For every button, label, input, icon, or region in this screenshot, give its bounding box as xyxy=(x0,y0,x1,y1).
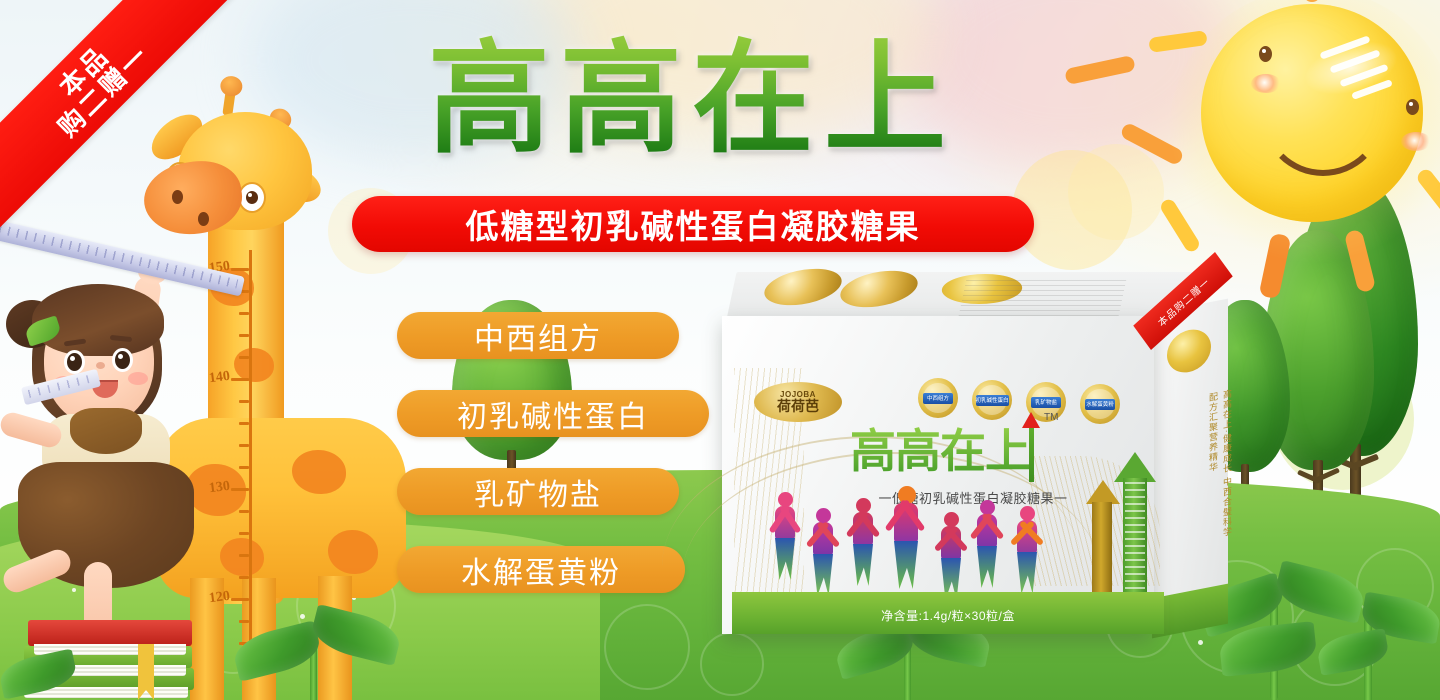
package-logo-text: 高高在上 xyxy=(850,420,1040,482)
sun-eye-right xyxy=(1406,99,1419,115)
package-badge-4-label: 水解蛋黄粉 xyxy=(1085,399,1115,410)
sprout-left-edge xyxy=(0,646,110,700)
kid-figure xyxy=(890,486,922,590)
sprout-bottom-right-2 xyxy=(1336,594,1440,700)
feature-pill-4[interactable]: 水解蛋黄粉 xyxy=(397,546,685,593)
sun-cheek-right xyxy=(1401,132,1431,151)
brand-name-cn: 荷荷芭 xyxy=(777,399,819,414)
package-subtitle: 一低糖初乳碱性蛋白凝胶糖果一 xyxy=(848,488,1098,507)
box-front-face: JOJOBA 荷荷芭 中西组方 初乳碱性蛋白 乳矿物盐 水解蛋黄粉 高高在上 T… xyxy=(722,316,1154,634)
page-title: 高高在上 xyxy=(392,24,992,174)
feature-pill-2-label: 初乳碱性蛋白 xyxy=(457,392,649,436)
sun-eye-left xyxy=(1259,46,1272,62)
package-badge-2: 初乳碱性蛋白 xyxy=(972,380,1012,420)
girl-eye-right xyxy=(112,348,133,372)
ad-banner: 150 140 130 120 xyxy=(0,0,1440,700)
package-badge-4: 水解蛋黄粉 xyxy=(1080,384,1120,424)
height-ruler: 150 140 130 120 xyxy=(212,250,252,660)
package-arrow-tip xyxy=(1022,412,1040,428)
sprout-bottom-left xyxy=(252,608,412,700)
product-package: 高高在上·健康成长 中西合璧科学配方汇聚营养精华 JOJOBA 荷荷芭 中西组方… xyxy=(712,272,1232,644)
package-arrow-stem xyxy=(1029,426,1034,482)
feature-pill-3[interactable]: 乳矿物盐 xyxy=(397,468,679,515)
feature-pill-3-label: 乳矿物盐 xyxy=(474,470,602,514)
kid-figure xyxy=(850,498,876,590)
subtitle-text: 低糖型初乳碱性蛋白凝胶糖果 xyxy=(466,200,921,248)
feature-pill-1[interactable]: 中西组方 xyxy=(397,312,679,359)
package-badge-3-label: 乳矿物盐 xyxy=(1031,397,1061,408)
feature-pill-4-label: 水解蛋黄粉 xyxy=(461,548,621,592)
sun-character xyxy=(1163,0,1440,282)
box-side-text: 高高在上·健康成长 中西合璧科学配方汇聚营养精华 xyxy=(1174,388,1234,550)
package-badge-1: 中西组方 xyxy=(918,378,958,418)
subtitle-pill: 低糖型初乳碱性蛋白凝胶糖果 xyxy=(352,196,1034,252)
girl-eye-left xyxy=(64,350,85,374)
package-badge-1-label: 中西组方 xyxy=(923,393,953,404)
book-red-top xyxy=(28,620,192,646)
bokeh-circle xyxy=(1068,144,1164,240)
kid-figure xyxy=(974,500,1000,592)
kid-figure xyxy=(938,512,964,604)
package-badge-2-label: 初乳碱性蛋白 xyxy=(976,395,1009,406)
feature-pill-2[interactable]: 初乳碱性蛋白 xyxy=(397,390,709,437)
trademark-symbol: TM xyxy=(1044,412,1058,423)
brand-logo: JOJOBA 荷荷芭 xyxy=(754,382,842,422)
girl-scarf xyxy=(70,408,142,454)
kid-figure xyxy=(772,492,798,584)
net-weight-text: 净含量:1.4g/粒×30粒/盒 xyxy=(732,607,1164,624)
box-top-text-block xyxy=(958,280,1127,320)
kid-figure xyxy=(810,508,836,600)
kid-figure xyxy=(1014,506,1040,598)
feature-pill-1-label: 中西组方 xyxy=(474,314,602,358)
